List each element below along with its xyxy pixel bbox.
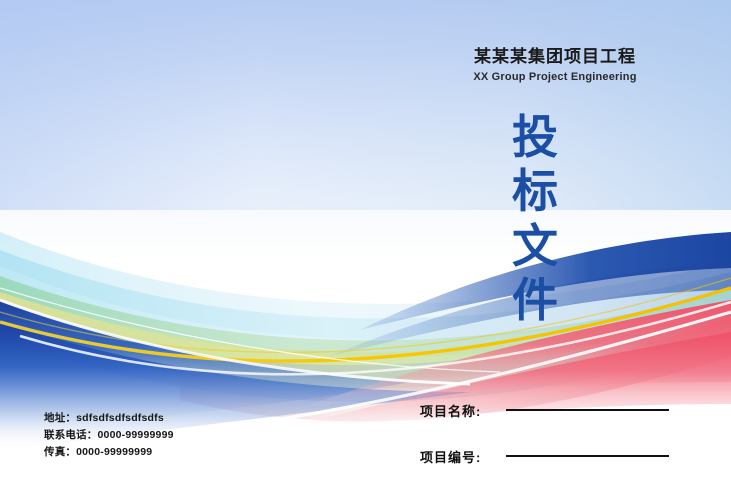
title-char-2: 标 [505,164,565,218]
title-char-4: 件 [505,273,565,327]
project-number-row: 项目编号: [420,441,669,471]
project-name-label: 项目名称: [420,401,496,420]
document-title-vertical: 投 标 文 件 [505,110,565,327]
title-char-1: 投 [505,110,565,164]
project-fields: 项目名称: 项目编号: [420,395,669,487]
company-name-cn: 某某某集团项目工程 [430,46,680,68]
company-name-en: XX Group Project Engineering [430,71,680,83]
contact-address: 地址：sdfsdfsdfsdfsdfs [44,410,174,427]
title-char-3: 文 [505,219,565,273]
contact-info-block: 地址：sdfsdfsdfsdfsdfs 联系电话：0000-99999999 传… [44,410,174,461]
project-number-input-line[interactable] [506,455,669,457]
company-header: 某某某集团项目工程 XX Group Project Engineering [430,46,680,83]
contact-fax: 传真：0000-99999999 [44,444,174,461]
project-number-label: 项目编号: [420,447,496,466]
project-name-input-line[interactable] [506,409,669,411]
project-name-row: 项目名称: [420,395,669,425]
contact-phone: 联系电话：0000-99999999 [44,427,174,444]
bid-document-cover: 某某某集团项目工程 XX Group Project Engineering 投… [0,0,731,500]
